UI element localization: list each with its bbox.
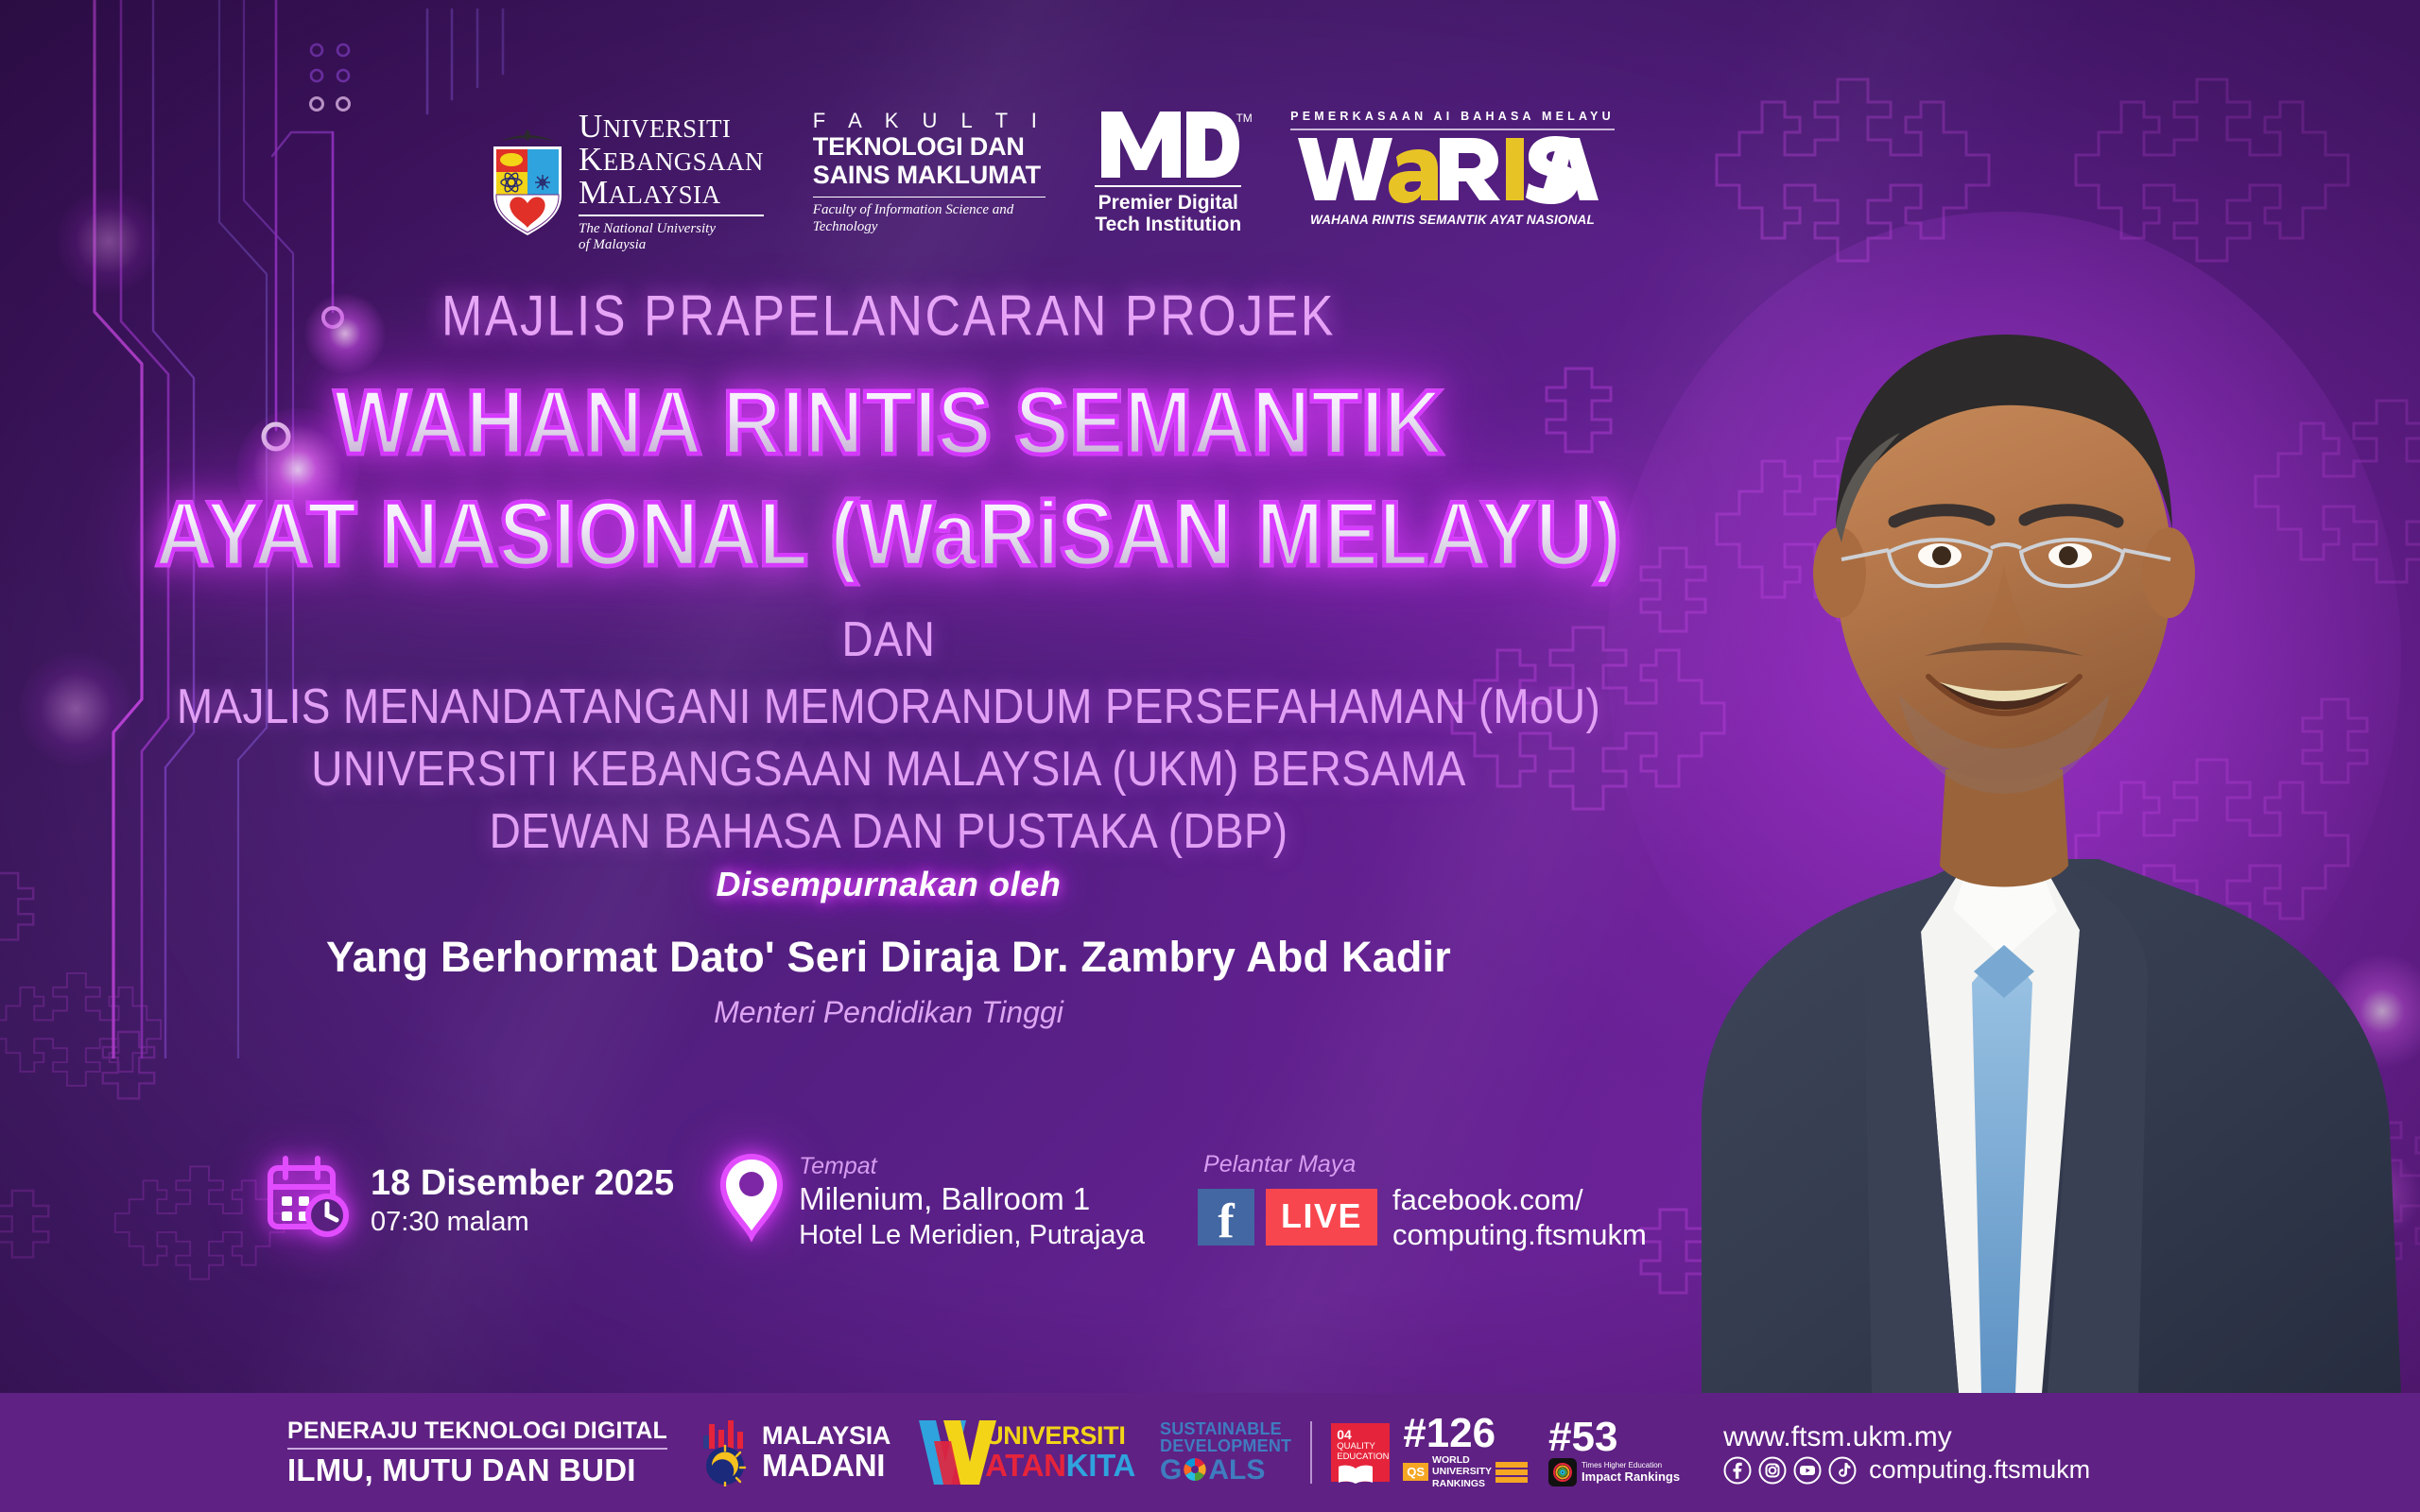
sdg-logo: SUSTAINABLE DEVELOPMENT G ALS <box>1160 1420 1291 1485</box>
officiated-by-label: Disempurnakan oleh <box>0 865 1777 904</box>
ftsm-line2: SAINS MAKLUMAT <box>813 161 1046 189</box>
ukm-k: K <box>579 141 603 178</box>
ukm-alaysia: ALAYSIA <box>609 180 721 209</box>
date-info: 18 Disember 2025 07:30 malam <box>263 1151 674 1242</box>
platform-label: Pelantar Maya <box>1203 1151 1647 1178</box>
warisan-tagline-bottom: WAHANA RINTIS SEMANTIK AYAT NASIONAL <box>1290 213 1615 227</box>
md-monogram-icon: TM <box>1098 110 1239 180</box>
the-spiral-icon <box>1548 1458 1577 1486</box>
event-time: 07:30 malam <box>371 1205 674 1239</box>
qs-word-3: RANKINGS <box>1432 1478 1492 1490</box>
website-url[interactable]: www.ftsm.ukm.my <box>1723 1420 2090 1453</box>
tagline-divider <box>287 1448 667 1450</box>
tagline-top: PENERAJU TEKNOLOGI DIGITAL <box>287 1417 667 1445</box>
ftsm-subtitle-2: Technology <box>813 219 1046 236</box>
map-pin-icon <box>717 1151 786 1242</box>
ftsm-subtitle-1: Faculty of Information Science and <box>813 202 1046 219</box>
uwk-wordmark: UNIVERSITI ATANKITA <box>985 1423 1135 1481</box>
warisan-logo: PEMERKASAAN AI BAHASA MELAYU WAHANA RINT… <box>1266 110 1615 227</box>
ftsm-divider <box>813 197 1046 198</box>
sdg4-number: 04 <box>1337 1428 1384 1441</box>
the-wordmark: Times Higher Education Impact Rankings <box>1582 1462 1680 1484</box>
ukm-u: U <box>579 108 603 145</box>
partner-logos-row: UNIVERSITI KEBANGSAAN MALAYSIA The Natio… <box>488 110 1615 254</box>
qs-words: WORLD UNIVERSITY RANKINGS <box>1432 1454 1492 1490</box>
malaysia-madani-logo: MALAYSIA MADANI <box>696 1418 890 1486</box>
mou-line-1: MAJLIS MENANDATANGANI MEMORANDUM PERSEFA… <box>0 671 1777 741</box>
venue-label: Tempat <box>799 1153 1145 1180</box>
madani-line-2: MADANI <box>762 1450 890 1482</box>
qs-ranking-badge: #126 QS WORLD UNIVERSITY RANKINGS <box>1403 1415 1528 1490</box>
tagline-bottom: ILMU, MUTU DAN BUDI <box>287 1452 667 1488</box>
qs-rankings-logo: QS WORLD UNIVERSITY RANKINGS <box>1403 1454 1528 1490</box>
qs-bars-icon <box>1495 1462 1528 1483</box>
warisan-divider <box>1290 129 1615 130</box>
footer-web-block: www.ftsm.ukm.my <box>1723 1420 2090 1485</box>
qs-word-2: UNIVERSITY <box>1432 1466 1492 1478</box>
sdg4-label-2: EDUCATION <box>1337 1452 1384 1462</box>
officiator-block: Disempurnakan oleh Yang Berhormat Dato' … <box>0 865 1777 1030</box>
conjunction-dan: DAN <box>0 610 1777 667</box>
headline-block: MAJLIS PRAPELANCARAN PROJEK WAHANA RINTI… <box>0 283 1777 858</box>
warisan-tagline-top: PEMERKASAAN AI BAHASA MELAYU <box>1290 110 1615 123</box>
universiti-watan-kita-logo: UNIVERSITI ATANKITA <box>917 1417 1135 1488</box>
social-handle[interactable]: computing.ftsmukm <box>1869 1455 2090 1485</box>
venue-line-2: Hotel Le Meridien, Putrajaya <box>799 1218 1145 1252</box>
footer-divider <box>1310 1421 1312 1484</box>
mou-line-3: DEWAN BAHASA DAN PUSTAKA (DBP) <box>0 796 1777 866</box>
facebook-url-line-2[interactable]: computing.ftsmukm <box>1392 1217 1647 1252</box>
warisan-wordmark-icon <box>1296 132 1608 206</box>
sdg-line-1: SUSTAINABLE <box>1160 1420 1291 1437</box>
venue-line-1: Milenium, Ballroom 1 <box>799 1180 1145 1218</box>
sdg-goals-g: G <box>1160 1455 1182 1486</box>
sdg-color-wheel-icon <box>1183 1457 1207 1482</box>
ukm-divider <box>579 215 764 216</box>
sdg-line-2: DEVELOPMENT <box>1160 1437 1291 1454</box>
ukm-m: M <box>579 174 609 211</box>
madani-emblem-icon <box>696 1418 754 1486</box>
officiator-role: Menteri Pendidikan Tinggi <box>0 995 1777 1030</box>
youtube-icon[interactable] <box>1793 1456 1822 1485</box>
ukm-crest-icon <box>488 126 567 237</box>
mou-line-2: UNIVERSITI KEBANGSAAN MALAYSIA (UKM) BER… <box>0 733 1777 803</box>
calendar-clock-icon <box>263 1151 354 1242</box>
qs-word-1: WORLD <box>1432 1454 1492 1467</box>
md-tm-mark: TM <box>1236 112 1252 125</box>
md-subtitle-1: Premier Digital <box>1095 192 1241 215</box>
md-subtitle-2: Tech Institution <box>1095 214 1241 236</box>
the-impact-ranking-badge: #53 Times Higher Education Impact Rank <box>1548 1418 1680 1487</box>
platform-info: Pelantar Maya f LIVE facebook.com/ compu… <box>1198 1151 1647 1252</box>
sdg-goals-als: ALS <box>1208 1455 1265 1486</box>
ukm-tagline: PENERAJU TEKNOLOGI DIGITAL ILMU, MUTU DA… <box>287 1417 667 1488</box>
footer-bar: PENERAJU TEKNOLOGI DIGITAL ILMU, MUTU DA… <box>0 1393 2420 1512</box>
event-title-line1: WAHANA RINTIS SEMANTIK <box>0 365 1777 483</box>
the-rank-number: #53 <box>1548 1418 1617 1456</box>
event-title-line2: AYAT NASIONAL (WaRiSAN MELAYU) <box>0 476 1777 594</box>
madani-wordmark: MALAYSIA MADANI <box>762 1423 890 1481</box>
event-kicker: MAJLIS PRAPELANCARAN PROJEK <box>0 283 1777 350</box>
qs-mark: QS <box>1403 1463 1428 1481</box>
facebook-url-line-1[interactable]: facebook.com/ <box>1392 1182 1647 1217</box>
ftsm-line1: TEKNOLOGI DAN <box>813 132 1046 161</box>
md-divider <box>1095 185 1241 187</box>
event-date: 18 Disember 2025 <box>371 1162 674 1205</box>
sdg4-label-1: QUALITY <box>1337 1442 1384 1452</box>
the-line-2: Impact Rankings <box>1582 1470 1680 1484</box>
event-poster: UNIVERSITI KEBANGSAAN MALAYSIA The Natio… <box>0 0 2420 1512</box>
ukm-subtitle-2: of Malaysia <box>579 237 764 254</box>
uwk-line-1: UNIVERSITI <box>985 1423 1135 1450</box>
facebook-icon[interactable]: f <box>1198 1189 1254 1246</box>
open-book-icon <box>1337 1464 1374 1485</box>
madani-line-1: MALAYSIA <box>762 1423 890 1450</box>
the-impact-logo: Times Higher Education Impact Rankings <box>1548 1458 1680 1486</box>
qs-rank-number: #126 <box>1403 1415 1495 1452</box>
ukm-wordmark: UNIVERSITI KEBANGSAAN MALAYSIA The Natio… <box>579 110 764 254</box>
event-info-strip: 18 Disember 2025 07:30 malam Tempat Mile… <box>263 1151 1647 1252</box>
venue-info: Tempat Milenium, Ballroom 1 Hotel Le Mer… <box>717 1151 1145 1252</box>
glow-node-mid-left <box>57 189 161 293</box>
live-badge: LIVE <box>1266 1189 1377 1246</box>
ftsm-logo: F A K U L T I TEKNOLOGI DAN SAINS MAKLUM… <box>788 110 1071 236</box>
sdg-goals-word: G ALS <box>1160 1455 1291 1486</box>
sdg4-badge: 04 QUALITY EDUCATION <box>1331 1423 1390 1482</box>
md-logo: TM Premier Digital Tech Institution <box>1070 110 1266 236</box>
officiator-name: Yang Berhormat Dato' Seri Diraja Dr. Zam… <box>0 933 1777 982</box>
ftsm-fakulti: F A K U L T I <box>813 110 1046 132</box>
facebook-live-row[interactable]: f LIVE facebook.com/ computing.ftsmukm <box>1198 1182 1647 1252</box>
uwk-kita: KITA <box>1066 1448 1135 1483</box>
instagram-icon[interactable] <box>1758 1456 1787 1485</box>
ukm-subtitle-1: The National University <box>579 221 764 238</box>
facebook-icon[interactable] <box>1723 1456 1752 1485</box>
facebook-f-glyph: f <box>1218 1201 1234 1243</box>
tiktok-icon[interactable] <box>1828 1456 1857 1485</box>
ukm-logo: UNIVERSITI KEBANGSAAN MALAYSIA The Natio… <box>488 110 788 254</box>
social-icons-row: computing.ftsmukm <box>1723 1455 2090 1485</box>
ukm-ebangsaan: EBANGSAAN <box>603 147 764 176</box>
ukm-niversiti: NIVERSITI <box>603 114 732 143</box>
uwk-watan: ATAN <box>985 1448 1066 1483</box>
